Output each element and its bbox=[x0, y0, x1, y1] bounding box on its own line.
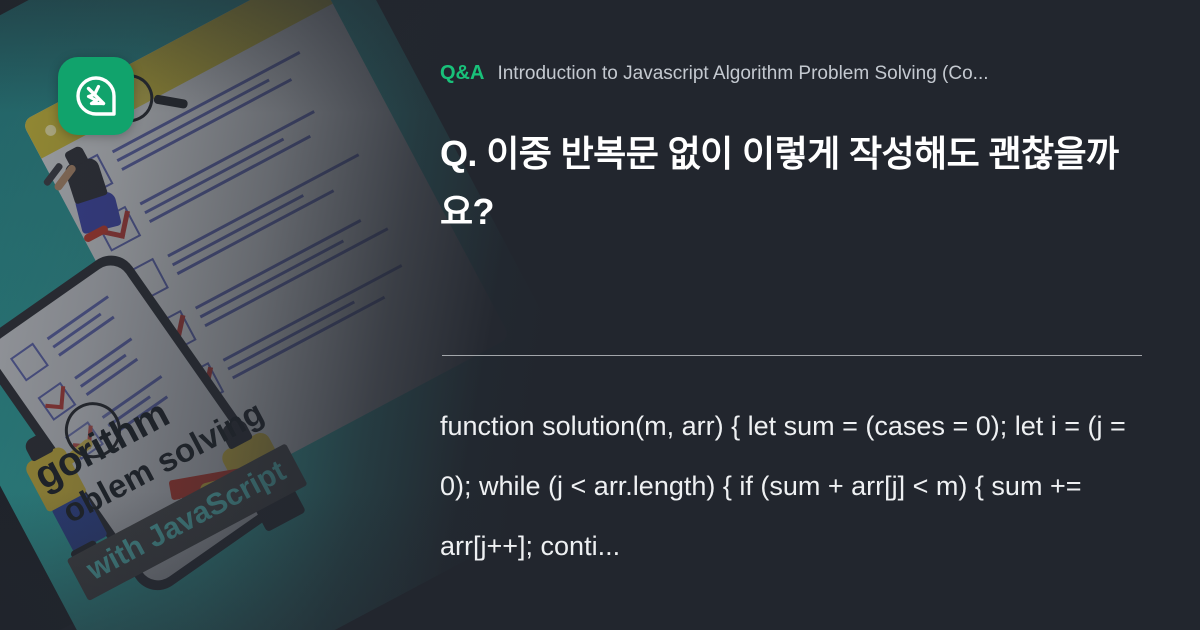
inflearn-leaf-icon bbox=[74, 74, 118, 118]
page-title: Q. 이중 반복문 없이 이렇게 작성해도 괜찮을까요? bbox=[440, 125, 1130, 242]
post-content: Q&A Introduction to Javascript Algorithm… bbox=[440, 0, 1140, 630]
brand-logo[interactable] bbox=[58, 57, 134, 135]
breadcrumb-tag-qna[interactable]: Q&A bbox=[440, 62, 484, 85]
content-divider bbox=[442, 355, 1142, 356]
post-body-text: function solution(m, arr) { let sum = (c… bbox=[440, 396, 1130, 586]
breadcrumb-course-name[interactable]: Introduction to Javascript Algorithm Pro… bbox=[497, 63, 988, 85]
breadcrumb: Q&A Introduction to Javascript Algorithm… bbox=[440, 62, 1140, 85]
og-preview-card: 2021 P t++ bbox=[0, 0, 1200, 630]
